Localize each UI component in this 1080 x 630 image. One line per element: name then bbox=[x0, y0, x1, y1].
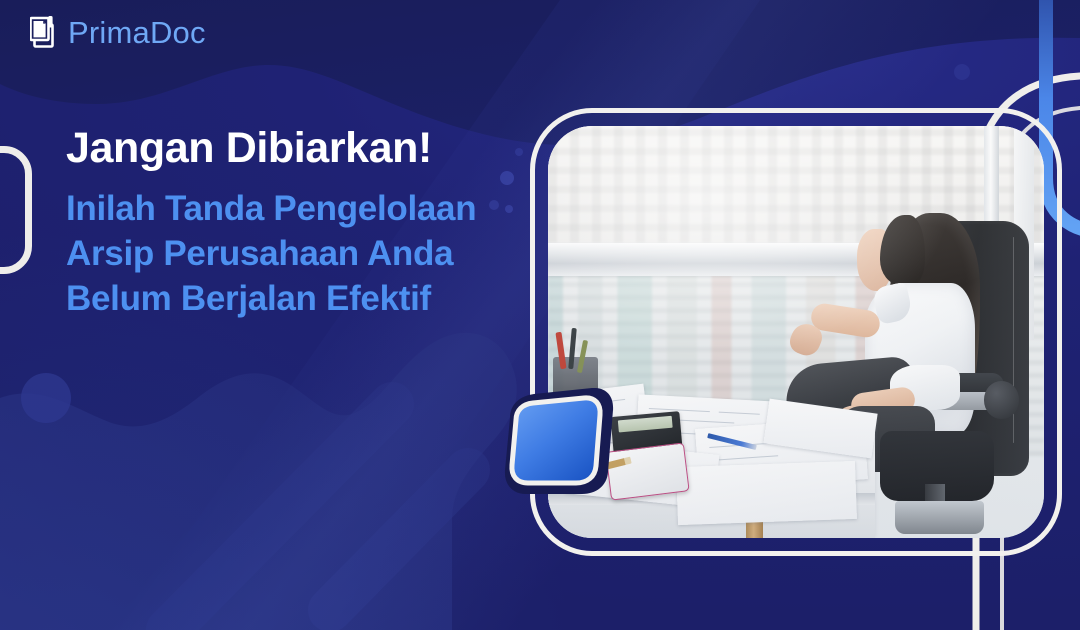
badge-face bbox=[512, 398, 600, 483]
subheading: Inilah Tanda Pengelolaan Arsip Perusahaa… bbox=[66, 187, 536, 321]
headline-block: Jangan Dibiarkan! Inilah Tanda Pengelola… bbox=[66, 124, 536, 322]
subheading-line-2: Arsip Perusahaan Anda bbox=[66, 232, 536, 277]
blue-badge-shape bbox=[496, 388, 614, 494]
hero-photo bbox=[548, 126, 1044, 538]
stacked-documents-icon bbox=[30, 16, 60, 49]
brand-logo[interactable]: PrimaDoc bbox=[30, 16, 206, 49]
left-pill-outline bbox=[0, 146, 32, 274]
promo-banner: PrimaDoc Jangan Dibiarkan! Inilah Tanda … bbox=[0, 0, 1080, 630]
subheading-line-1: Inilah Tanda Pengelolaan bbox=[66, 187, 536, 232]
hero-photo-card bbox=[548, 126, 1044, 538]
page-title: Jangan Dibiarkan! bbox=[66, 124, 536, 172]
subheading-line-3: Belum Berjalan Efektif bbox=[66, 277, 536, 322]
brand-name: PrimaDoc bbox=[68, 17, 206, 48]
